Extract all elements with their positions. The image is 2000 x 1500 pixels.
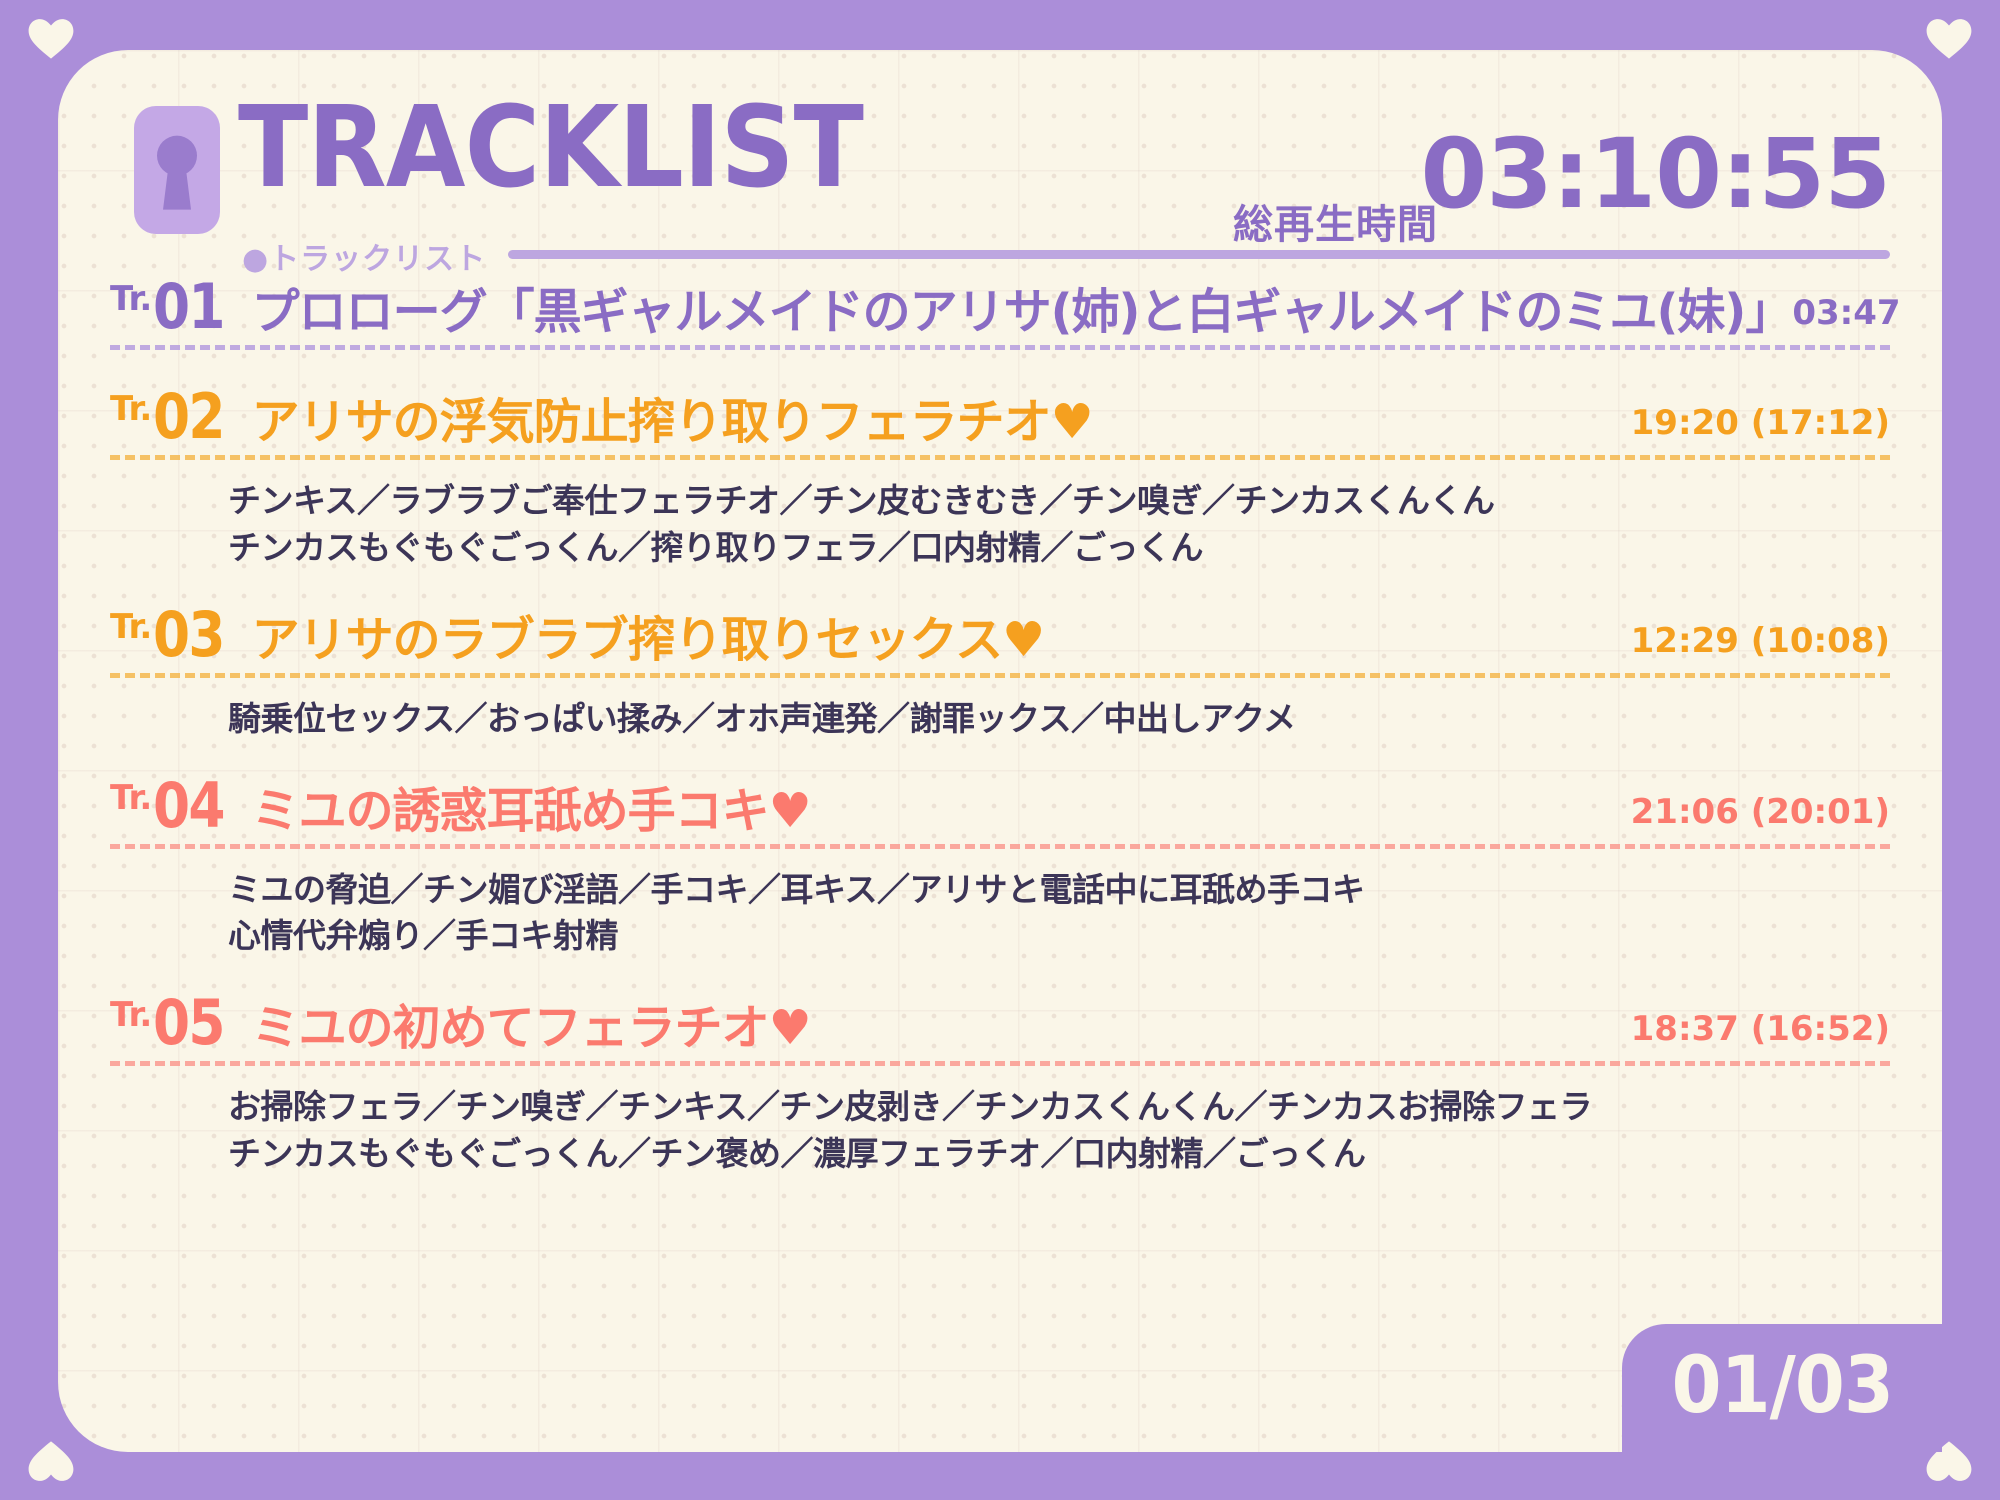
track-prefix: Tr. xyxy=(110,279,151,319)
track-description-line: 騎乗位セックス／おっぱい揉み／オホ声連発／謝罪ックス／中出しアクメ xyxy=(228,696,1890,743)
track-row: Tr.03アリサのラブラブ搾り取りセックス♥12:29 (10:08)騎乗位セッ… xyxy=(110,598,1890,743)
track-duration: 12:29 (10:08) xyxy=(1631,621,1890,661)
track-description: ミユの脅迫／チン媚び淫語／手コキ／耳キス／アリサと電話中に耳舐め手コキ心情代弁煽… xyxy=(228,867,1890,961)
track-heading: Tr.04ミユの誘惑耳舐め手コキ♥21:06 (20:01) xyxy=(110,769,1890,842)
track-number: 03 xyxy=(153,598,224,671)
track-heading: Tr.01プロローグ「黒ギャルメイドのアリサ(姉)と白ギャルメイドのミユ(妹)」… xyxy=(110,270,1890,343)
total-time-label: 総再生時間 xyxy=(1233,192,1438,250)
header-divider xyxy=(508,250,1890,259)
tracklist-content: TRACKLIST ●トラックリスト 総再生時間 03:10:55 Tr.01プ… xyxy=(58,50,1942,1452)
keyhole-badge xyxy=(134,106,220,234)
track-title: プロローグ「黒ギャルメイドのアリサ(姉)と白ギャルメイドのミユ(妹)」 xyxy=(252,272,1793,342)
track-description-line: チンカスもぐもぐごっくん／搾り取りフェラ／口内射精／ごっくん xyxy=(228,525,1890,572)
track-description: お掃除フェラ／チン嗅ぎ／チンキス／チン皮剥き／チンカスくんくん／チンカスお掃除フ… xyxy=(228,1084,1890,1178)
track-title: アリサの浮気防止搾り取りフェラチオ♥ xyxy=(252,382,1093,452)
track-description-line: チンキス／ラブラブご奉仕フェラチオ／チン皮むきむき／チン嗅ぎ／チンカスくんくん xyxy=(228,478,1890,525)
page-frame: TRACKLIST ●トラックリスト 総再生時間 03:10:55 Tr.01プ… xyxy=(0,0,2000,1500)
track-divider xyxy=(110,673,1890,678)
track-description: チンキス／ラブラブご奉仕フェラチオ／チン皮むきむき／チン嗅ぎ／チンカスくんくんチ… xyxy=(228,478,1890,572)
track-title: ミユの初めてフェラチオ♥ xyxy=(252,988,811,1058)
page-subtitle: ●トラックリスト xyxy=(242,234,486,278)
track-prefix: Tr. xyxy=(110,778,151,818)
track-duration: 03:47 xyxy=(1792,293,1900,333)
track-number: 05 xyxy=(153,986,224,1059)
track-duration: 18:37 (16:52) xyxy=(1631,1009,1890,1049)
header: TRACKLIST ●トラックリスト 総再生時間 03:10:55 xyxy=(110,84,1890,254)
track-number: 01 xyxy=(153,270,224,343)
track-description-line: ミユの脅迫／チン媚び淫語／手コキ／耳キス／アリサと電話中に耳舐め手コキ xyxy=(228,867,1890,914)
track-divider xyxy=(110,455,1890,460)
track-duration: 21:06 (20:01) xyxy=(1631,792,1890,832)
track-prefix: Tr. xyxy=(110,995,151,1035)
track-duration: 19:20 (17:12) xyxy=(1631,403,1890,443)
track-prefix: Tr. xyxy=(110,607,151,647)
track-description-line: チンカスもぐもぐごっくん／チン褒め／濃厚フェラチオ／口内射精／ごっくん xyxy=(228,1131,1890,1178)
track-description: 騎乗位セックス／おっぱい揉み／オホ声連発／謝罪ックス／中出しアクメ xyxy=(228,696,1890,743)
track-divider xyxy=(110,345,1890,350)
track-heading: Tr.05ミユの初めてフェラチオ♥18:37 (16:52) xyxy=(110,986,1890,1059)
track-number: 04 xyxy=(153,769,224,842)
track-description-line: お掃除フェラ／チン嗅ぎ／チンキス／チン皮剥き／チンカスくんくん／チンカスお掃除フ… xyxy=(228,1084,1890,1131)
track-number: 02 xyxy=(153,380,224,453)
track-list: Tr.01プロローグ「黒ギャルメイドのアリサ(姉)と白ギャルメイドのミユ(妹)」… xyxy=(110,270,1890,1178)
track-prefix: Tr. xyxy=(110,389,151,429)
track-row: Tr.02アリサの浮気防止搾り取りフェラチオ♥19:20 (17:12)チンキス… xyxy=(110,380,1890,572)
page-number: 01/03 xyxy=(1671,1341,1892,1431)
track-row: Tr.05ミユの初めてフェラチオ♥18:37 (16:52)お掃除フェラ／チン嗅… xyxy=(110,986,1890,1178)
track-description-line: 心情代弁煽り／手コキ射精 xyxy=(228,913,1890,960)
keyhole-icon xyxy=(150,130,204,214)
track-row: Tr.01プロローグ「黒ギャルメイドのアリサ(姉)と白ギャルメイドのミユ(妹)」… xyxy=(110,270,1890,350)
track-heading: Tr.02アリサの浮気防止搾り取りフェラチオ♥19:20 (17:12) xyxy=(110,380,1890,453)
track-title: ミユの誘惑耳舐め手コキ♥ xyxy=(252,771,811,841)
track-divider xyxy=(110,1061,1890,1066)
total-time-value: 03:10:55 xyxy=(1420,126,1890,222)
track-divider xyxy=(110,844,1890,849)
track-row: Tr.04ミユの誘惑耳舐め手コキ♥21:06 (20:01)ミユの脅迫／チン媚び… xyxy=(110,769,1890,961)
page-title: TRACKLIST xyxy=(238,92,863,204)
page-number-badge: 01/03 xyxy=(1622,1324,1942,1452)
track-title: アリサのラブラブ搾り取りセックス♥ xyxy=(252,600,1045,670)
track-heading: Tr.03アリサのラブラブ搾り取りセックス♥12:29 (10:08) xyxy=(110,598,1890,671)
